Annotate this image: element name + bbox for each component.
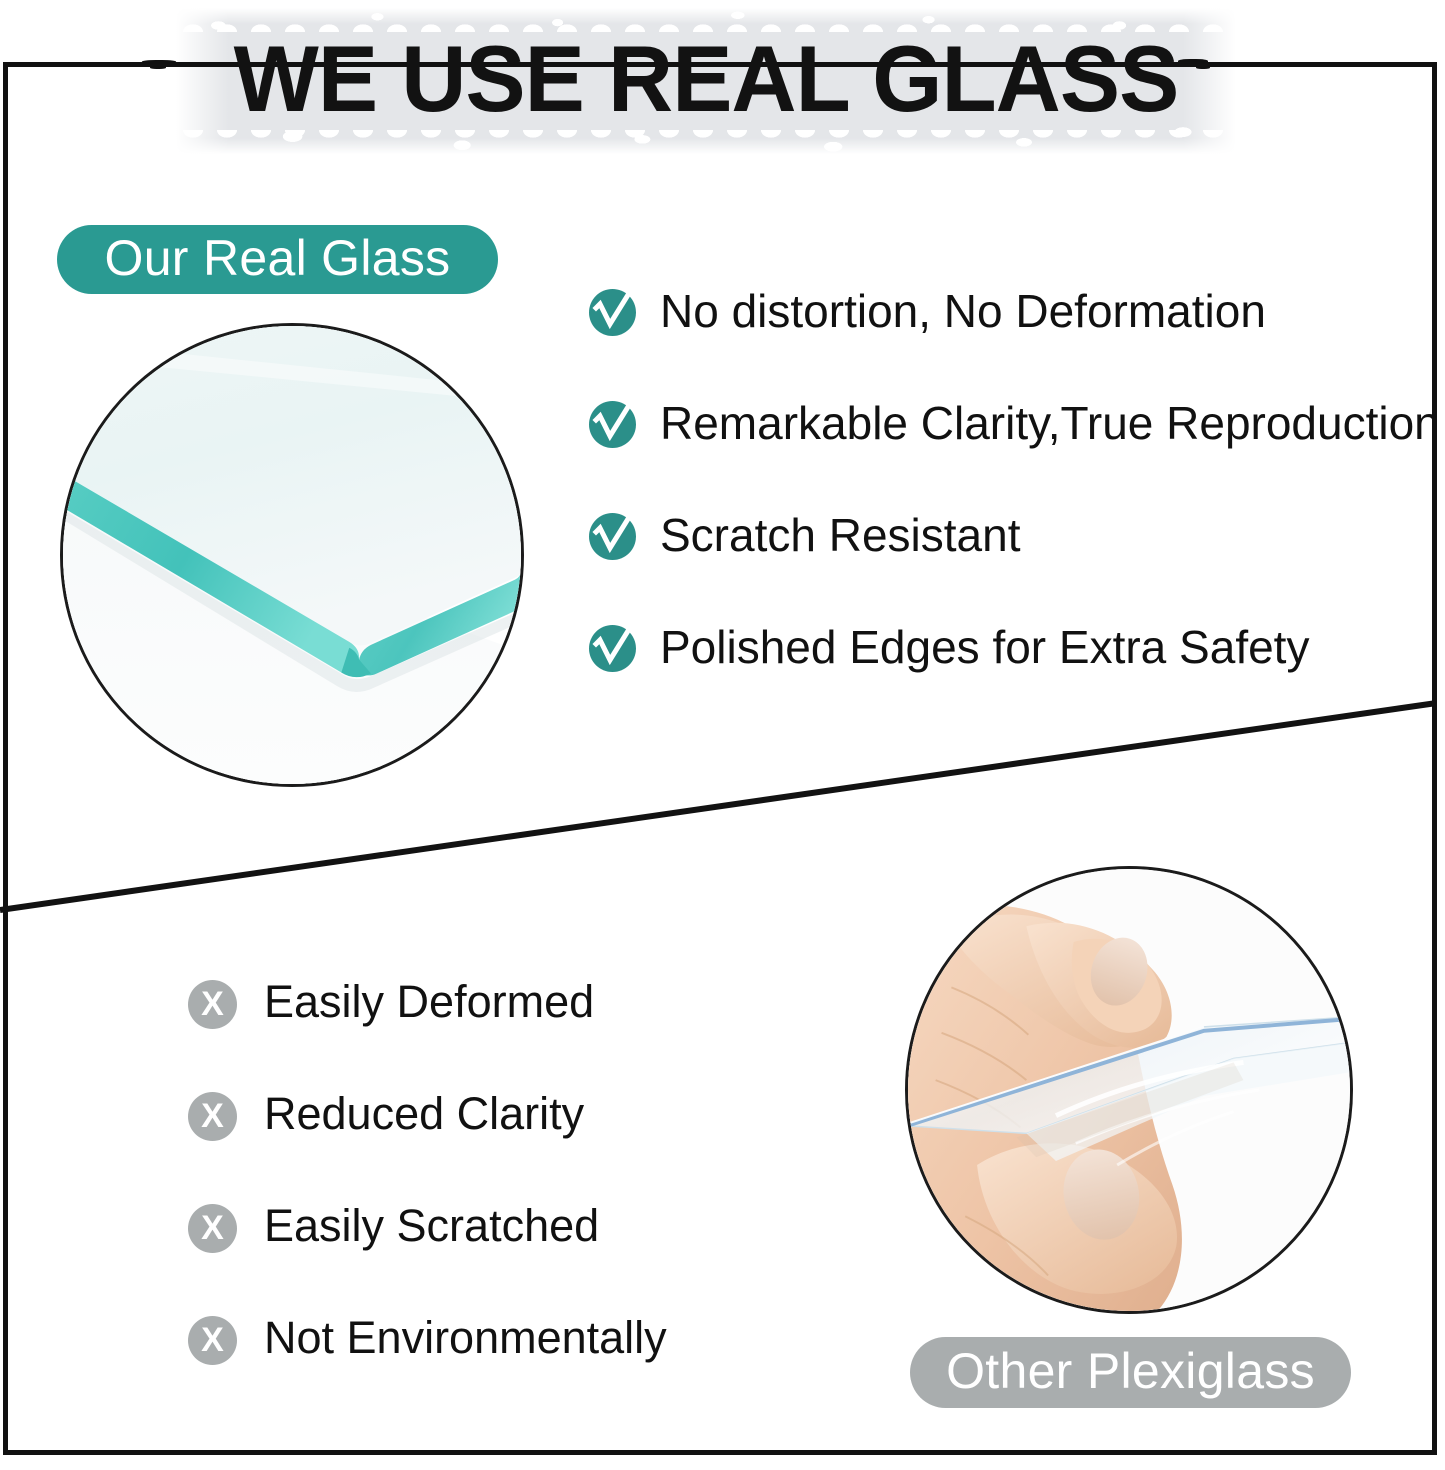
check-icon — [589, 625, 636, 672]
badge-our-real-glass-label: Our Real Glass — [105, 229, 451, 287]
page-title: WE USE REAL GLASS — [197, 23, 1215, 135]
x-icon: X — [188, 980, 237, 1029]
infographic-canvas: WE USE REAL GLASS Our Real Glass — [0, 0, 1445, 1470]
x-mark: X — [188, 980, 237, 1029]
photo-real-glass — [60, 323, 524, 787]
list-item: X Not Environmentally — [188, 1310, 808, 1422]
check-icon — [589, 513, 636, 560]
badge-our-real-glass: Our Real Glass — [57, 225, 498, 294]
list-item: X Reduced Clarity — [188, 1086, 808, 1198]
check-icon — [589, 401, 636, 448]
hand-bending-plexiglass-illustration-icon — [908, 869, 1350, 1311]
check-icon — [589, 289, 636, 336]
list-item: X Easily Deformed — [188, 974, 808, 1086]
x-icon: X — [188, 1092, 237, 1141]
list-item: Remarkable Clarity,True Reproduction — [589, 395, 1429, 507]
x-mark: X — [188, 1316, 237, 1365]
advantage-label: Remarkable Clarity,True Reproduction — [660, 395, 1440, 451]
list-item: Polished Edges for Extra Safety — [589, 619, 1429, 731]
badge-other-plexiglass-label: Other Plexiglass — [946, 1342, 1315, 1400]
list-item: Scratch Resistant — [589, 507, 1429, 619]
list-item: X Easily Scratched — [188, 1198, 808, 1310]
ink-fleck-left-small-icon — [150, 66, 166, 69]
x-icon: X — [188, 1204, 237, 1253]
drawback-label: Reduced Clarity — [264, 1086, 584, 1142]
list-item: No distortion, No Deformation — [589, 283, 1429, 395]
real-glass-illustration-icon — [63, 326, 521, 784]
x-mark: X — [188, 1204, 237, 1253]
advantage-label: Polished Edges for Extra Safety — [660, 619, 1309, 675]
drawback-label: Not Environmentally — [264, 1310, 667, 1366]
x-mark: X — [188, 1092, 237, 1141]
badge-other-plexiglass: Other Plexiglass — [910, 1337, 1351, 1408]
advantage-label: Scratch Resistant — [660, 507, 1020, 563]
drawbacks-list: X Easily Deformed X Reduced Clarity X Ea… — [188, 974, 808, 1422]
drawback-label: Easily Deformed — [264, 974, 594, 1030]
ink-fleck-left-icon — [142, 60, 176, 64]
photo-plexiglass — [905, 866, 1353, 1314]
drawback-label: Easily Scratched — [264, 1198, 599, 1254]
x-icon: X — [188, 1316, 237, 1365]
advantages-list: No distortion, No Deformation Remarkable… — [589, 283, 1429, 731]
advantage-label: No distortion, No Deformation — [660, 283, 1266, 339]
